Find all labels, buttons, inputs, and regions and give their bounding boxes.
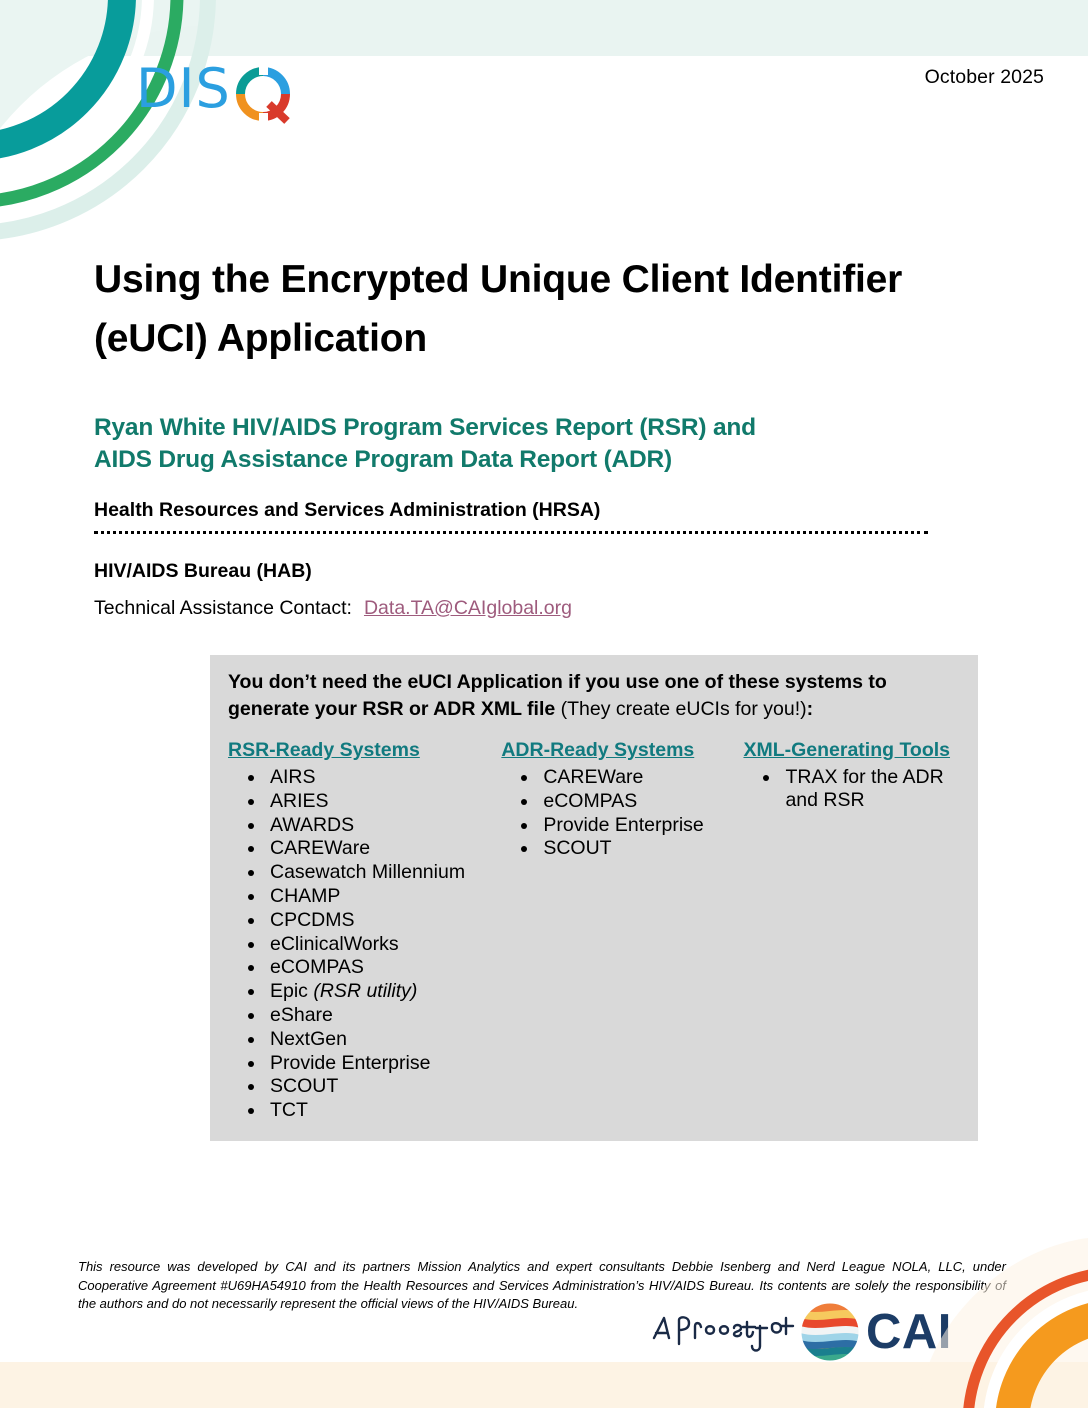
list-item: AWARDS	[266, 814, 493, 838]
cai-globe-icon	[800, 1302, 860, 1362]
list-item: TCT	[266, 1099, 493, 1123]
list-item: eCOMPAS	[539, 790, 735, 814]
list-item-label: Provide Enterprise	[270, 1052, 430, 1074]
list-item: CPCDMS	[266, 909, 493, 933]
list-item: Provide Enterprise	[266, 1052, 493, 1076]
column-title-rsr: RSR-Ready Systems	[220, 739, 493, 762]
list-adr-ready-systems: CAREWare eCOMPAS Provide Enterprise SCOU…	[493, 766, 735, 861]
list-item-label: TRAX for the ADR and RSR	[785, 766, 943, 811]
dotted-divider	[94, 531, 928, 534]
agency-bureau: HIV/AIDS Bureau (HAB)	[94, 560, 312, 583]
list-item: TRAX for the ADR and RSR	[781, 766, 960, 812]
list-item-label: eClinicalWorks	[270, 933, 399, 955]
page-subtitle-line-1: Ryan White HIV/AIDS Program Services Rep…	[94, 412, 974, 444]
list-item-label: Epic	[270, 980, 313, 1002]
list-item-label: SCOUT	[270, 1075, 338, 1097]
column-adr-ready-systems: ADR-Ready Systems CAREWare eCOMPAS Provi…	[493, 739, 735, 1123]
technical-assistance-contact: Technical Assistance Contact:Data.TA@CAI…	[94, 597, 572, 620]
disq-logo-q-icon	[235, 66, 291, 124]
list-item: CAREWare	[539, 766, 735, 790]
callout-heading-regular: (They create eUCIs for you!)	[555, 698, 806, 720]
list-item: AIRS	[266, 766, 493, 790]
page-title-line-1: Using the Encrypted Unique Client Identi…	[94, 250, 974, 309]
agency-organization: Health Resources and Services Administra…	[94, 499, 600, 522]
list-item: ARIES	[266, 790, 493, 814]
list-item-label: CAREWare	[270, 837, 370, 859]
list-item: eShare	[266, 1004, 493, 1028]
list-item-label: eShare	[270, 1004, 333, 1026]
list-item: eCOMPAS	[266, 956, 493, 980]
list-item-label: CAREWare	[543, 766, 643, 788]
column-xml-generating-tools: XML-Generating Tools TRAX for the ADR an…	[735, 739, 960, 1123]
list-item-label: eCOMPAS	[270, 956, 364, 978]
bottom-right-arc-decoration	[888, 1238, 1088, 1408]
a-project-of-script	[648, 1304, 796, 1360]
list-item: eClinicalWorks	[266, 933, 493, 957]
list-item-label: TCT	[270, 1099, 308, 1121]
euci-exemption-callout: You don’t need the eUCI Application if y…	[210, 655, 978, 1141]
callout-columns: RSR-Ready Systems AIRS ARIES AWARDS CARE…	[220, 739, 960, 1123]
column-rsr-ready-systems: RSR-Ready Systems AIRS ARIES AWARDS CARE…	[220, 739, 493, 1123]
contact-label: Technical Assistance Contact:	[94, 597, 352, 619]
page-title: Using the Encrypted Unique Client Identi…	[94, 250, 974, 368]
list-item-label: Casewatch Millennium	[270, 861, 465, 883]
list-item: Epic (RSR utility)	[266, 980, 493, 1004]
list-item-label: Provide Enterprise	[543, 814, 703, 836]
list-item-label: SCOUT	[543, 837, 611, 859]
contact-email-link[interactable]: Data.TA@CAIglobal.org	[364, 597, 572, 619]
column-title-xml: XML-Generating Tools	[735, 739, 960, 762]
list-rsr-ready-systems: AIRS ARIES AWARDS CAREWare Casewatch Mil…	[220, 766, 493, 1123]
list-item: CHAMP	[266, 885, 493, 909]
list-item-label: eCOMPAS	[543, 790, 637, 812]
list-item-label: NextGen	[270, 1028, 347, 1050]
disq-logo: DIS	[136, 56, 296, 128]
column-title-adr: ADR-Ready Systems	[493, 739, 735, 762]
list-item-note: (RSR utility)	[313, 980, 417, 1002]
list-item: SCOUT	[266, 1075, 493, 1099]
list-item: NextGen	[266, 1028, 493, 1052]
list-item-label: CPCDMS	[270, 909, 355, 931]
list-item: Provide Enterprise	[539, 814, 735, 838]
callout-heading: You don’t need the eUCI Application if y…	[220, 669, 960, 723]
page-subtitle: Ryan White HIV/AIDS Program Services Rep…	[94, 412, 974, 476]
list-item-label: ARIES	[270, 790, 329, 812]
list-xml-generating-tools: TRAX for the ADR and RSR	[735, 766, 960, 812]
list-item: Casewatch Millennium	[266, 861, 493, 885]
list-item: SCOUT	[539, 837, 735, 861]
list-item-label: AWARDS	[270, 814, 354, 836]
page-title-line-2: (eUCI) Application	[94, 309, 974, 368]
callout-heading-bold-2: :	[807, 698, 814, 720]
list-item: CAREWare	[266, 837, 493, 861]
list-item-label: CHAMP	[270, 885, 340, 907]
page-subtitle-line-2: AIDS Drug Assistance Program Data Report…	[94, 444, 974, 476]
disq-logo-wordmark: DIS	[136, 58, 231, 120]
list-item-label: AIRS	[270, 766, 316, 788]
document-date: October 2025	[925, 66, 1044, 89]
